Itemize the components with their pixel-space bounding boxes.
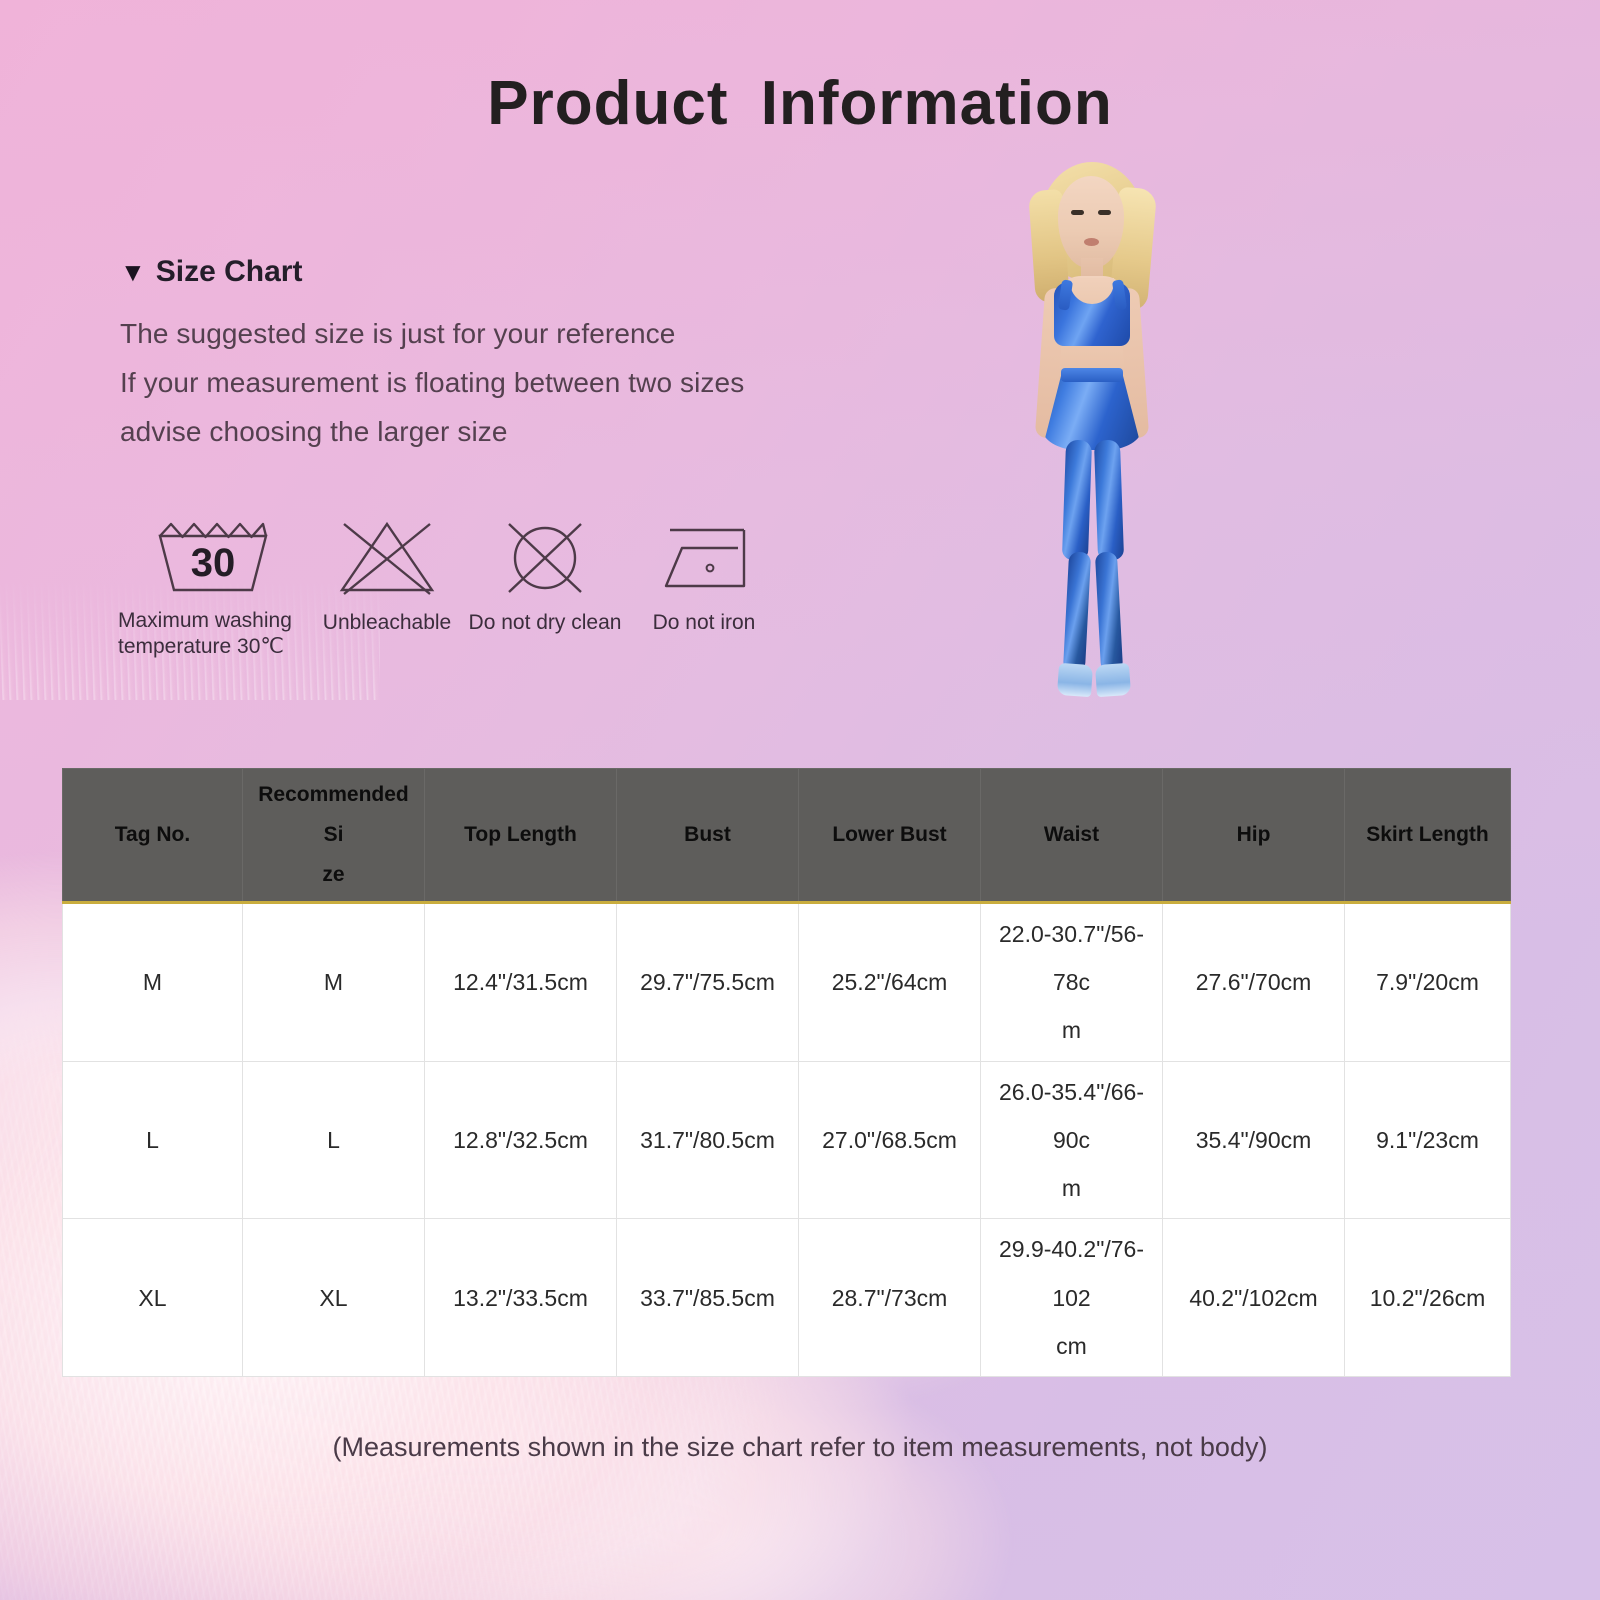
column-header-top-length: Top Length — [425, 769, 617, 903]
care-symbol-do-not-dry-clean: Do not dry clean — [466, 518, 624, 636]
column-header-skirt-length: Skirt Length — [1345, 769, 1511, 903]
cell-bust: 29.7"/75.5cm — [617, 902, 799, 1061]
cell-top-length: 13.2"/33.5cm — [425, 1219, 617, 1377]
column-header-recommended-size: Recommended Si ze — [243, 769, 425, 903]
size-chart-heading: ▼ Size Chart — [120, 255, 900, 289]
product-stocking-right-thigh — [1094, 440, 1124, 561]
cell-waist: 22.0-30.7"/56-78c m — [981, 902, 1163, 1061]
cell-top-length: 12.8"/32.5cm — [425, 1061, 617, 1219]
column-header-lower-bust: Lower Bust — [799, 769, 981, 903]
model-lips — [1084, 238, 1099, 246]
svg-text:30: 30 — [191, 541, 236, 585]
care-label-unbleachable: Unbleachable — [323, 610, 451, 636]
no-bleach-triangle-icon — [332, 518, 442, 596]
table-row: M M 12.4"/31.5cm 29.7"/75.5cm 25.2"/64cm… — [63, 902, 1511, 1061]
cell-hip: 40.2"/102cm — [1163, 1219, 1345, 1377]
care-symbol-unbleachable: Unbleachable — [308, 518, 466, 636]
size-chart-info-block: ▼ Size Chart The suggested size is just … — [120, 255, 900, 456]
triangle-down-icon: ▼ — [120, 259, 146, 285]
cell-lower-bust: 28.7"/73cm — [799, 1219, 981, 1377]
product-stocking-left-thigh — [1062, 440, 1092, 561]
cell-recommended-size: XL — [243, 1219, 425, 1377]
product-stocking-right-calf — [1095, 552, 1123, 673]
column-header-waist: Waist — [981, 769, 1163, 903]
cell-skirt-length: 7.9"/20cm — [1345, 902, 1511, 1061]
cell-waist: 29.9-40.2"/76-102 cm — [981, 1219, 1163, 1377]
care-label-do-not-iron: Do not iron — [653, 610, 756, 636]
measurements-disclaimer: (Measurements shown in the size chart re… — [0, 1432, 1600, 1463]
column-header-tag-no: Tag No. — [63, 769, 243, 903]
care-label-max-wash-temperature: Maximum washing temperature 30℃ — [118, 608, 308, 661]
cell-recommended-size: M — [243, 902, 425, 1061]
size-note-line-1: The suggested size is just for your refe… — [120, 309, 900, 358]
wash-tub-30-icon: 30 — [152, 518, 274, 596]
cell-tag-no: L — [63, 1061, 243, 1219]
model-eye-right — [1098, 210, 1111, 215]
cell-recommended-size: L — [243, 1061, 425, 1219]
care-label-do-not-dry-clean: Do not dry clean — [469, 610, 622, 636]
cell-skirt-length: 9.1"/23cm — [1345, 1061, 1511, 1219]
cell-top-length: 12.4"/31.5cm — [425, 902, 617, 1061]
cell-waist: 26.0-35.4"/66-90c m — [981, 1061, 1163, 1219]
size-note-line-2: If your measurement is floating between … — [120, 358, 900, 407]
care-symbol-do-not-iron: Do not iron — [624, 518, 784, 636]
model-face — [1058, 176, 1124, 268]
size-note-line-3: advise choosing the larger size — [120, 407, 900, 456]
cell-hip: 35.4"/90cm — [1163, 1061, 1345, 1219]
cell-tag-no: M — [63, 902, 243, 1061]
product-skirt-waistband — [1061, 368, 1123, 382]
column-header-bust: Bust — [617, 769, 799, 903]
product-stocking-left-calf — [1063, 552, 1091, 673]
size-chart-table: Tag No. Recommended Si ze Top Length Bus… — [62, 768, 1511, 1377]
table-row: XL XL 13.2"/33.5cm 33.7"/85.5cm 28.7"/73… — [63, 1219, 1511, 1377]
cell-hip: 27.6"/70cm — [1163, 902, 1345, 1061]
model-shoe-left — [1057, 663, 1093, 697]
cell-lower-bust: 27.0"/68.5cm — [799, 1061, 981, 1219]
model-product-photo — [988, 160, 1193, 735]
cell-skirt-length: 10.2"/26cm — [1345, 1219, 1511, 1377]
cell-bust: 33.7"/85.5cm — [617, 1219, 799, 1377]
cell-lower-bust: 25.2"/64cm — [799, 902, 981, 1061]
table-row: L L 12.8"/32.5cm 31.7"/80.5cm 27.0"/68.5… — [63, 1061, 1511, 1219]
size-chart-heading-label: Size Chart — [156, 255, 303, 289]
page-title: Product Information — [0, 68, 1600, 139]
no-dry-clean-circle-icon — [493, 518, 597, 596]
table-header-row: Tag No. Recommended Si ze Top Length Bus… — [63, 769, 1511, 903]
cell-bust: 31.7"/80.5cm — [617, 1061, 799, 1219]
model-eye-left — [1071, 210, 1084, 215]
column-header-hip: Hip — [1163, 769, 1345, 903]
care-symbols-row: 30 Maximum washing temperature 30℃ Unble… — [118, 518, 784, 661]
model-shoe-right — [1095, 663, 1131, 697]
care-symbol-max-wash-temperature: 30 Maximum washing temperature 30℃ — [118, 518, 308, 661]
no-iron-icon — [652, 518, 756, 596]
cell-tag-no: XL — [63, 1219, 243, 1377]
